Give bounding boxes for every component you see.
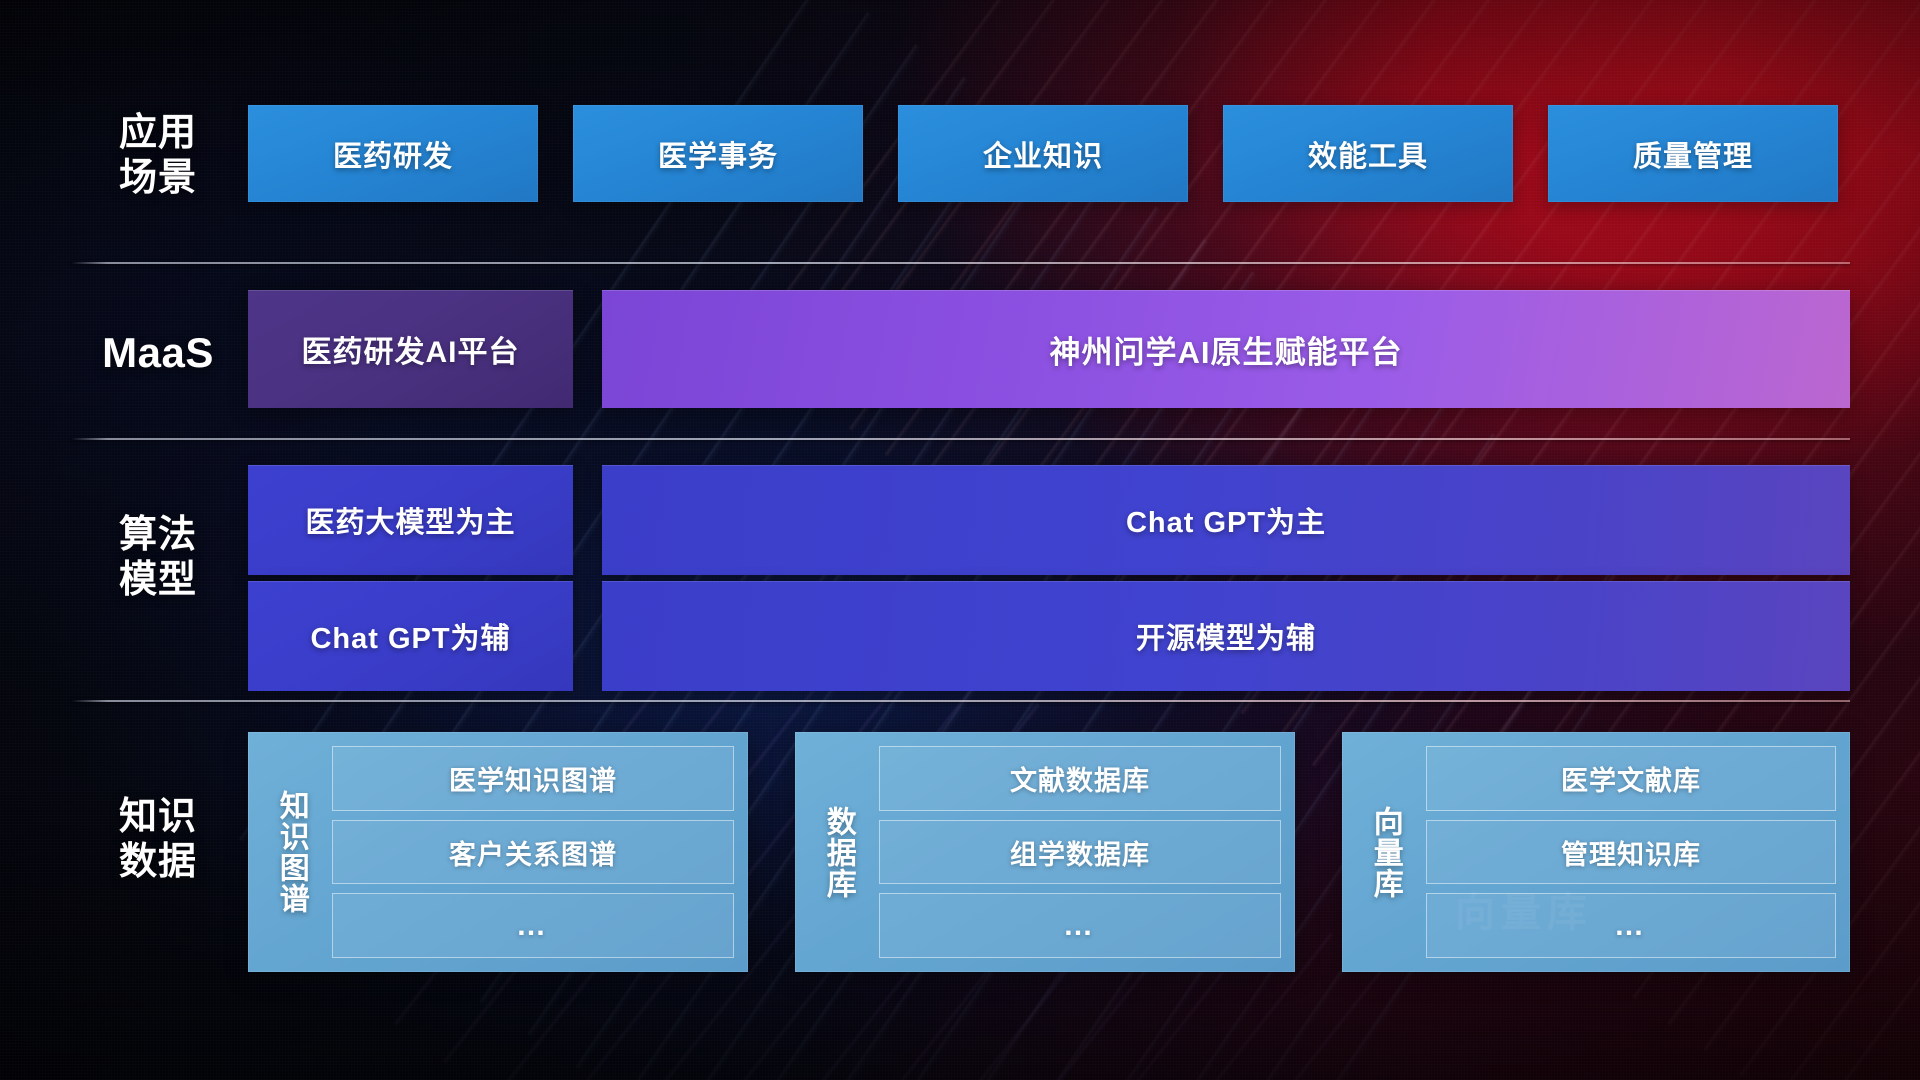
maas-right-box[interactable]: 神州问学AI原生赋能平台 xyxy=(602,290,1850,408)
app-scenario-box-2[interactable]: 医学事务 xyxy=(573,105,863,202)
knowledge-item-more[interactable]: … xyxy=(1426,893,1836,958)
knowledge-item[interactable]: 文献数据库 xyxy=(879,746,1281,811)
app-scenario-box-4[interactable]: 效能工具 xyxy=(1223,105,1513,202)
app-scenario-box-5[interactable]: 质量管理 xyxy=(1548,105,1838,202)
algorithm-secondary-left-box[interactable]: Chat GPT为辅 xyxy=(248,581,573,691)
app-scenario-box-3[interactable]: 企业知识 xyxy=(898,105,1188,202)
knowledge-item-label: 文献数据库 xyxy=(1010,759,1150,798)
algorithm-primary-left-box[interactable]: 医药大模型为主 xyxy=(248,465,573,575)
knowledge-item-more[interactable]: … xyxy=(332,893,734,958)
app-scenario-label-5: 质量管理 xyxy=(1633,133,1753,175)
app-scenario-label-2: 医学事务 xyxy=(658,133,778,175)
app-scenario-box-1[interactable]: 医药研发 xyxy=(248,105,538,202)
app-scenario-label-4: 效能工具 xyxy=(1308,133,1428,175)
row-label-maas: MaaS xyxy=(72,328,244,378)
knowledge-item-label: … xyxy=(516,909,550,943)
knowledge-item-label: … xyxy=(1614,909,1648,943)
row-label-application: 应用 场景 xyxy=(72,111,244,201)
knowledge-item-more[interactable]: … xyxy=(879,893,1281,958)
knowledge-item-label: … xyxy=(1063,909,1097,943)
knowledge-item-label: 客户关系图谱 xyxy=(449,833,617,872)
knowledge-group-database[interactable]: 数据库 文献数据库 组学数据库 … xyxy=(795,732,1295,972)
divider-algorithm-knowledge xyxy=(72,700,1850,702)
knowledge-group-database-items: 文献数据库 组学数据库 … xyxy=(869,746,1281,958)
row-label-knowledge: 知识 数据 xyxy=(72,795,244,885)
knowledge-item-label: 管理知识库 xyxy=(1561,833,1701,872)
knowledge-item[interactable]: 客户关系图谱 xyxy=(332,820,734,885)
knowledge-group-vector-title: 向量库 xyxy=(1354,746,1416,958)
algorithm-secondary-right-box[interactable]: 开源模型为辅 xyxy=(602,581,1850,691)
knowledge-group-vector[interactable]: 向量库 医学文献库 管理知识库 … xyxy=(1342,732,1850,972)
knowledge-item-label: 医学文献库 xyxy=(1561,759,1701,798)
diagram-content: 应用 场景 医药研发 医学事务 企业知识 效能工具 质量管理 MaaS 医药研发… xyxy=(0,0,1920,1080)
algorithm-secondary-left-label: Chat GPT为辅 xyxy=(310,615,510,657)
app-scenario-label-1: 医药研发 xyxy=(333,133,453,175)
knowledge-group-graph-title: 知识图谱 xyxy=(260,746,322,958)
knowledge-item-label: 医学知识图谱 xyxy=(449,759,617,798)
algorithm-secondary-right-label: 开源模型为辅 xyxy=(1136,615,1316,657)
maas-left-box[interactable]: 医药研发AI平台 xyxy=(248,290,573,408)
knowledge-group-database-title: 数据库 xyxy=(807,746,869,958)
knowledge-group-vector-items: 医学文献库 管理知识库 … xyxy=(1416,746,1836,958)
divider-maas-algorithm xyxy=(72,438,1850,440)
knowledge-item[interactable]: 管理知识库 xyxy=(1426,820,1836,885)
row-label-algorithm: 算法 模型 xyxy=(72,513,244,603)
knowledge-item[interactable]: 医学文献库 xyxy=(1426,746,1836,811)
app-scenario-label-3: 企业知识 xyxy=(983,133,1103,175)
algorithm-primary-right-label: Chat GPT为主 xyxy=(1126,499,1326,541)
knowledge-group-graph[interactable]: 知识图谱 医学知识图谱 客户关系图谱 … xyxy=(248,732,748,972)
maas-left-label: 医药研发AI平台 xyxy=(302,327,520,371)
knowledge-item-label: 组学数据库 xyxy=(1010,833,1150,872)
algorithm-primary-left-label: 医药大模型为主 xyxy=(305,499,515,541)
maas-right-label: 神州问学AI原生赋能平台 xyxy=(1050,327,1403,372)
knowledge-item[interactable]: 医学知识图谱 xyxy=(332,746,734,811)
divider-application-maas xyxy=(72,262,1850,264)
knowledge-group-graph-items: 医学知识图谱 客户关系图谱 … xyxy=(322,746,734,958)
knowledge-item[interactable]: 组学数据库 xyxy=(879,820,1281,885)
algorithm-primary-right-box[interactable]: Chat GPT为主 xyxy=(602,465,1850,575)
architecture-diagram: 应用 场景 医药研发 医学事务 企业知识 效能工具 质量管理 MaaS 医药研发… xyxy=(0,0,1920,1080)
